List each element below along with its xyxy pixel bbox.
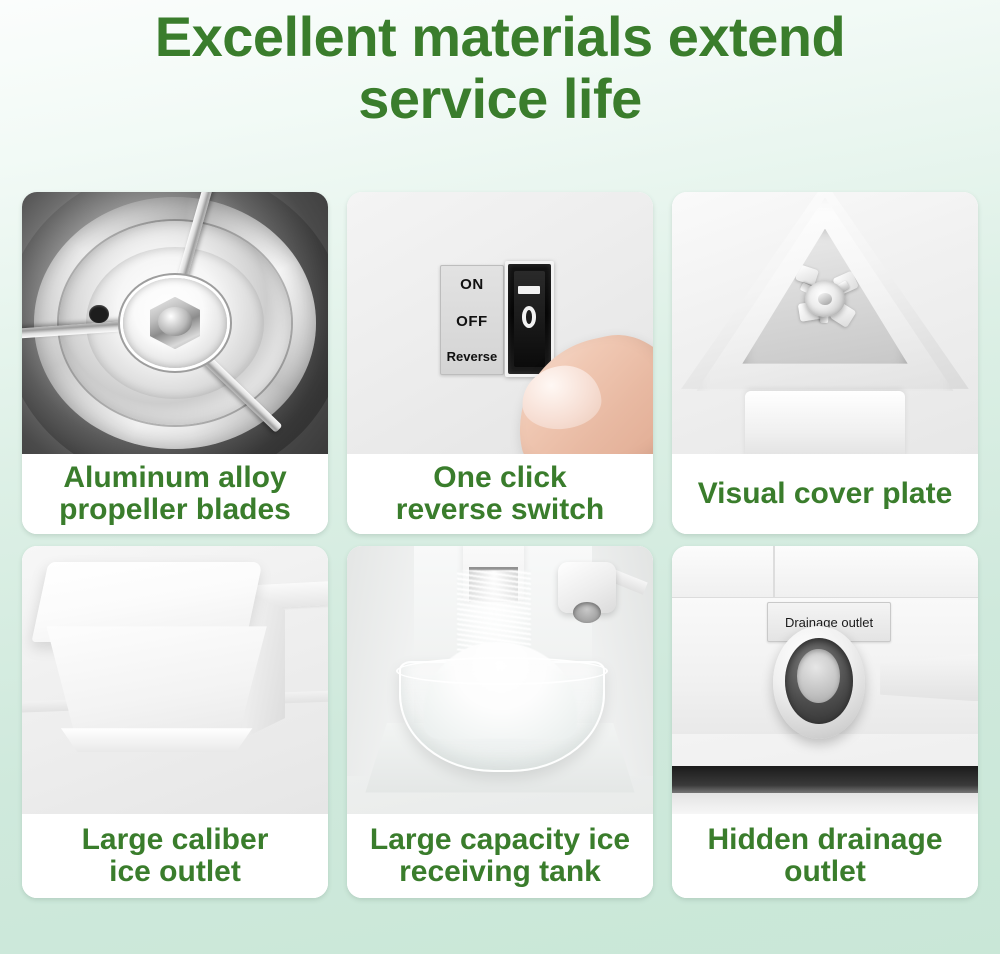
rocker-switch-body [508, 264, 551, 373]
switch-label-on: ON [460, 276, 484, 293]
feature-caption: Aluminum alloy propeller blades [22, 454, 328, 534]
infographic-page: Excellent materials extend service life … [0, 0, 1000, 954]
feature-card-hidden-drainage-outlet[interactable]: Drainage outlet Hidden drainage outlet [672, 546, 978, 898]
switch-label-off: OFF [456, 313, 488, 330]
reverse-switch-photo: ON OFF Reverse [347, 192, 653, 454]
feature-card-aluminum-alloy-propeller-blades[interactable]: Aluminum alloy propeller blades [22, 192, 328, 534]
switch-label-reverse: Reverse [447, 349, 498, 364]
feature-caption: Hidden drainage outlet [672, 814, 978, 898]
outlet-lip [53, 728, 261, 752]
feature-caption: One click reverse switch [347, 454, 653, 534]
ice-outlet-photo [22, 546, 328, 814]
feature-card-large-caliber-ice-outlet[interactable]: Large caliber ice outlet [22, 546, 328, 898]
outlet-front-face [46, 626, 266, 744]
feature-grid: Aluminum alloy propeller blades ON OFF R… [22, 192, 978, 898]
drainage-port-plug [797, 649, 840, 703]
feature-card-visual-cover-plate[interactable]: Visual cover plate [672, 192, 978, 534]
propeller-blades-photo [22, 192, 328, 454]
feature-card-large-capacity-ice-receiving-tank[interactable]: Large capacity ice receiving tank [347, 546, 653, 898]
page-title: Excellent materials extend service life [0, 0, 1000, 130]
feature-caption: Large capacity ice receiving tank [347, 814, 653, 898]
power-off-circle-icon [522, 306, 537, 328]
water-nozzle-knob [558, 562, 616, 613]
lower-cover-panel [745, 391, 904, 454]
rocker-switch[interactable] [505, 261, 554, 376]
panel-seam [773, 546, 775, 597]
title-line-2: service life [0, 68, 1000, 130]
switch-label-plate: ON OFF Reverse [440, 265, 503, 374]
drainage-outlet-photo: Drainage outlet [672, 546, 978, 814]
crusher-hub [805, 281, 845, 316]
hex-nut-core [158, 307, 192, 336]
ice-receiving-tank-photo [347, 546, 653, 814]
drain-hole-dot [89, 305, 109, 323]
floor-surface [672, 793, 978, 814]
power-on-bar-icon [518, 286, 540, 294]
appliance-top-panel [672, 546, 978, 597]
feature-caption: Visual cover plate [672, 454, 978, 534]
feature-card-one-click-reverse-switch[interactable]: ON OFF Reverse One click reverse switch [347, 192, 653, 534]
feature-caption: Large caliber ice outlet [22, 814, 328, 898]
title-line-1: Excellent materials extend [155, 5, 845, 68]
visual-cover-plate-photo [672, 192, 978, 454]
